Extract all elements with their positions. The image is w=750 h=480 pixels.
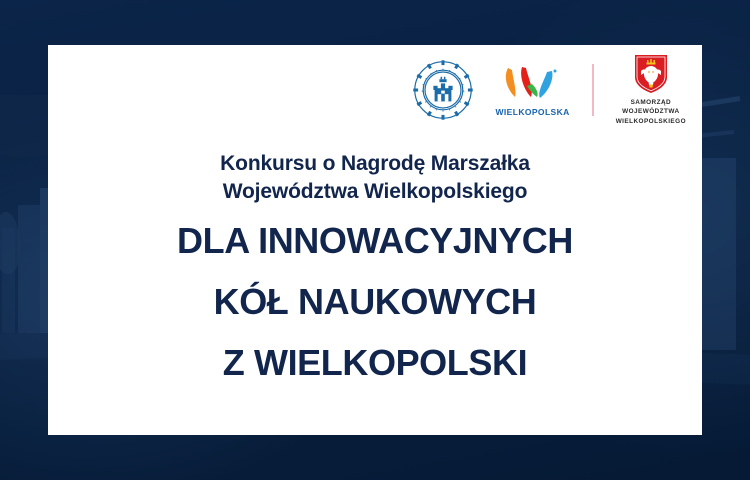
wielkopolska-logo: WIELKOPOLSKA [495,64,569,117]
background-building-a [18,205,40,333]
headline-block: Konkursu o Nagrodę Marszałka Województwa… [48,150,702,381]
wielkopolska-wordmark: WIELKOPOLSKA [495,107,569,117]
samorzad-logo: SAMORZĄD WOJEWÓDZTWA WIELKOPOLSKIEGO [616,54,686,126]
logo-divider [592,64,594,116]
title-line-1: DLA INNOWACYJNYCH [48,223,702,259]
samorzad-line-1: SAMORZĄD [616,98,686,107]
samorzad-caption: SAMORZĄD WOJEWÓDZTWA WIELKOPOLSKIEGO [616,98,686,126]
subtitle-line-2: Województwa Wielkopolskiego [48,178,702,206]
poster: WIELKOPOLSKA [0,0,750,480]
background-tree [0,212,20,274]
title-line-3: Z WIELKOPOLSKI [48,345,702,381]
wielkopolska-w-icon [502,64,564,104]
title-line-2: KÓŁ NAUKOWYCH [48,284,702,320]
samorzad-line-3: WIELKOPOLSKIEGO [616,117,686,126]
subtitle-line-1: Konkursu o Nagrodę Marszałka [48,150,702,178]
wielkopolska-shield-icon [634,54,668,94]
put-seal-icon [413,60,473,120]
samorzad-line-2: WOJEWÓDZTWA [616,107,686,116]
logo-bar: WIELKOPOLSKA [413,57,686,123]
content-card: WIELKOPOLSKA [48,45,702,435]
